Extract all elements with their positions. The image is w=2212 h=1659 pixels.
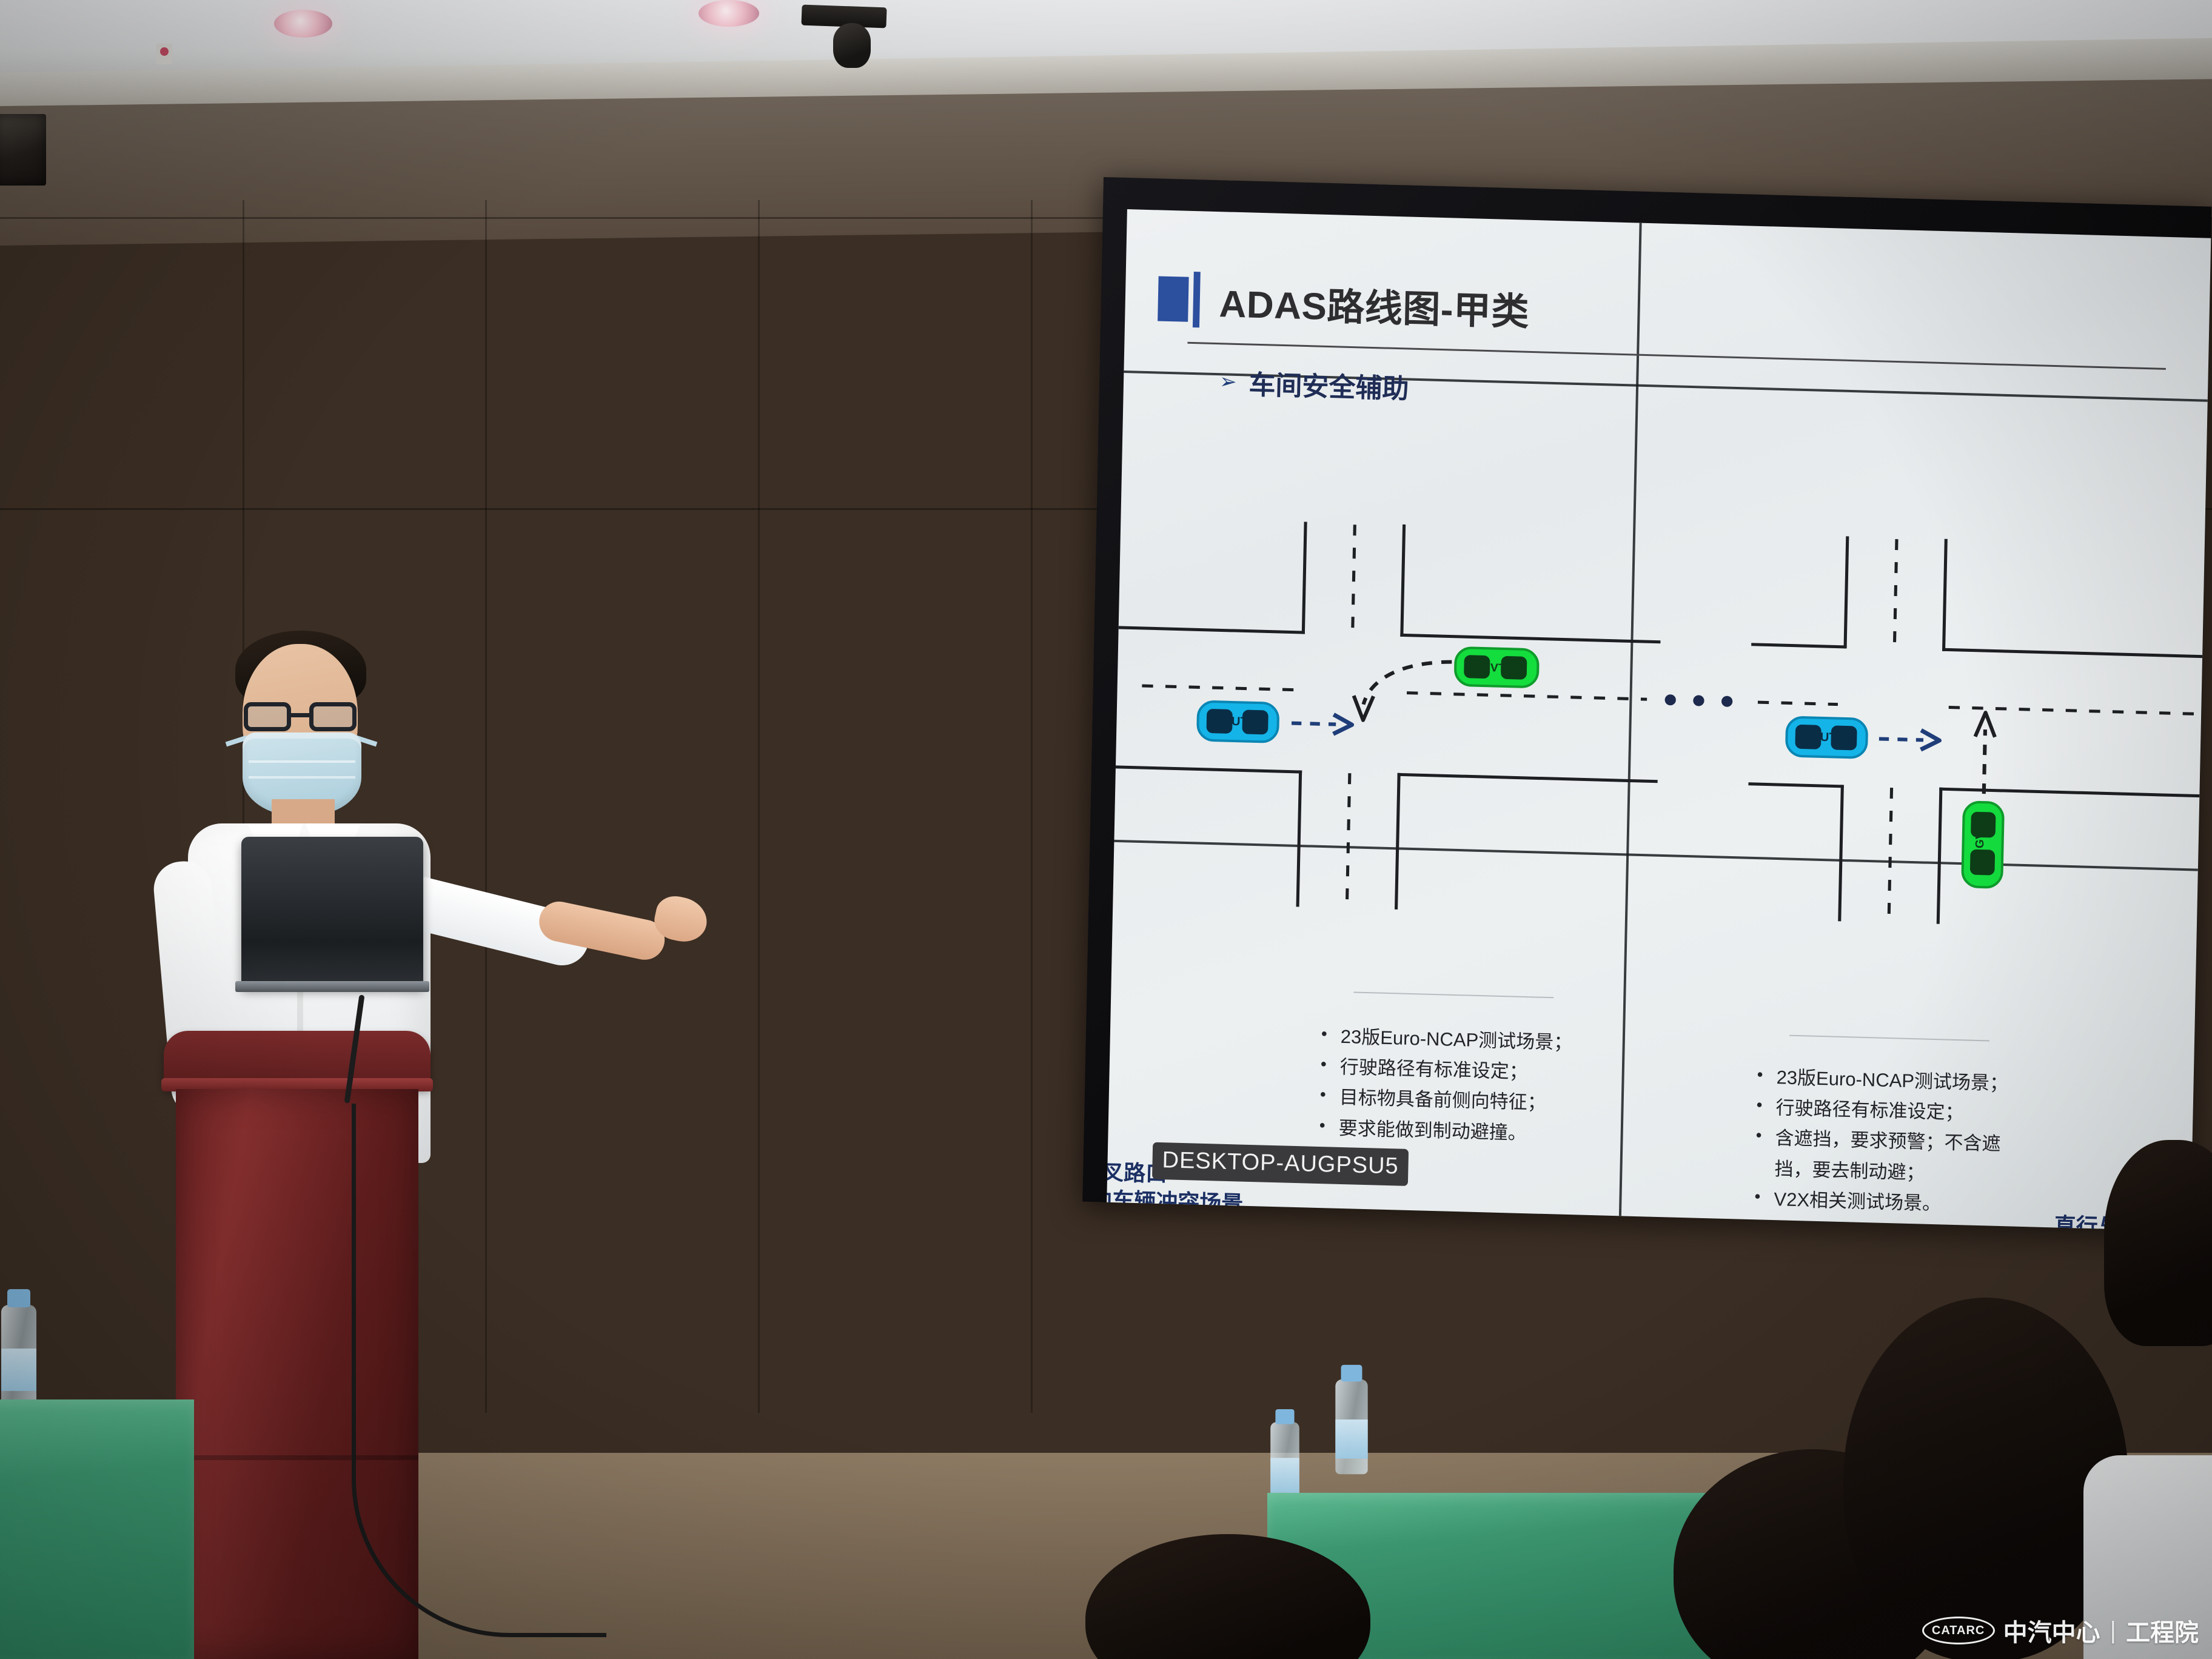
wall-panel-joint-4 [1031,200,1033,1413]
corner-watermark: CATARC 中汽中心 | 工程院 [1922,1613,2199,1648]
vehicle-vut-right: VUT [1786,717,1867,758]
bottle-label [1,1349,36,1391]
podium [170,1031,424,1659]
bottle-label [1335,1419,1367,1458]
title-accent-bar-icon [1193,272,1201,327]
vehicle-vut-left: VUT [1198,701,1278,742]
scenario-diagram-right: VUT GVT [1654,491,2205,954]
svg-text:GVT: GVT [1481,662,1506,675]
laptop [241,837,423,987]
chevron-right-icon: ➢ [1219,371,1237,392]
bottle-label [1270,1458,1299,1492]
presentation-slide: ADAS路线图-甲类 ➢ 车间安全辅助 [1107,209,2211,1231]
wall-speaker [0,114,46,186]
intersection-left-turn-conflict-icon: VUT GVT [1113,476,1664,939]
list-item: 含遮挡，要求预警；不含遮 挡，要去制动避； [1750,1122,2036,1191]
bullet-list-left: 23版Euro-NCAP测试场景； 行驶路径有标准设定； 目标物具备前侧向特征；… [1314,1021,1632,1151]
ceiling-light-icon [274,10,332,38]
wall-sensor-icon [156,44,172,64]
bottle-cap-icon [7,1289,30,1307]
vehicle-gvt-right: GVT [1962,802,2003,888]
slide-title: ADAS路线图-甲类 [1219,273,1530,336]
ellipsis-dots-icon [1664,694,1732,707]
bullet-divider-left [1353,991,1553,998]
scenario-diagram-left: VUT GVT [1113,476,1664,939]
conference-photo-scene: ADAS路线图-甲类 ➢ 车间安全辅助 [0,0,2212,1659]
bottle-cap-icon [1341,1365,1362,1382]
vehicle-gvt-left: GVT [1455,648,1538,688]
watermark-org: 中汽中心 [2003,1613,2100,1648]
glasses-icon [244,702,357,731]
svg-text:GVT: GVT [1974,824,1987,848]
svg-text:VUT: VUT [1223,715,1248,729]
display-screen: ADAS路线图-甲类 ➢ 车间安全辅助 [1107,209,2211,1231]
video-wall-display: ADAS路线图-甲类 ➢ 车间安全辅助 [1082,177,2211,1231]
catarc-logo-icon: CATARC [1922,1617,1995,1644]
wall-panel-joint-3 [758,200,760,1413]
slide-subheading: ➢ 车间安全辅助 [1219,362,2184,426]
water-bottle [1,1305,36,1408]
title-accent-block-icon [1158,276,1189,321]
bottle-cap-icon [1275,1409,1294,1424]
green-table-left [0,1399,194,1659]
slide-title-row: ADAS路线图-甲类 [1158,270,2185,354]
bullet-list-right: 23版Euro-NCAP测试场景； 行驶路径有标准设定； 含遮挡，要求预警；不含… [1749,1062,2037,1222]
audience-head [2104,1140,2212,1346]
laptop-hinge [235,981,429,992]
power-cable [352,1104,606,1637]
track-spotlight-icon [833,23,871,68]
svg-text:VUT: VUT [1812,731,1837,745]
water-bottle [1335,1379,1367,1474]
watermark-dept: 工程院 [2126,1613,2199,1648]
ceiling-light-icon [699,0,759,27]
intersection-crossing-conflict-icon: VUT GVT [1654,491,2205,954]
computer-name-tag: DESKTOP-AUGPSU5 [1152,1142,1409,1186]
scenario-diagram-row: VUT GVT [1113,476,2206,954]
bullet-divider-right [1789,1035,1989,1042]
watermark-separator: | [2110,1617,2116,1644]
slide-subheading-label: 车间安全辅助 [1248,363,1409,406]
